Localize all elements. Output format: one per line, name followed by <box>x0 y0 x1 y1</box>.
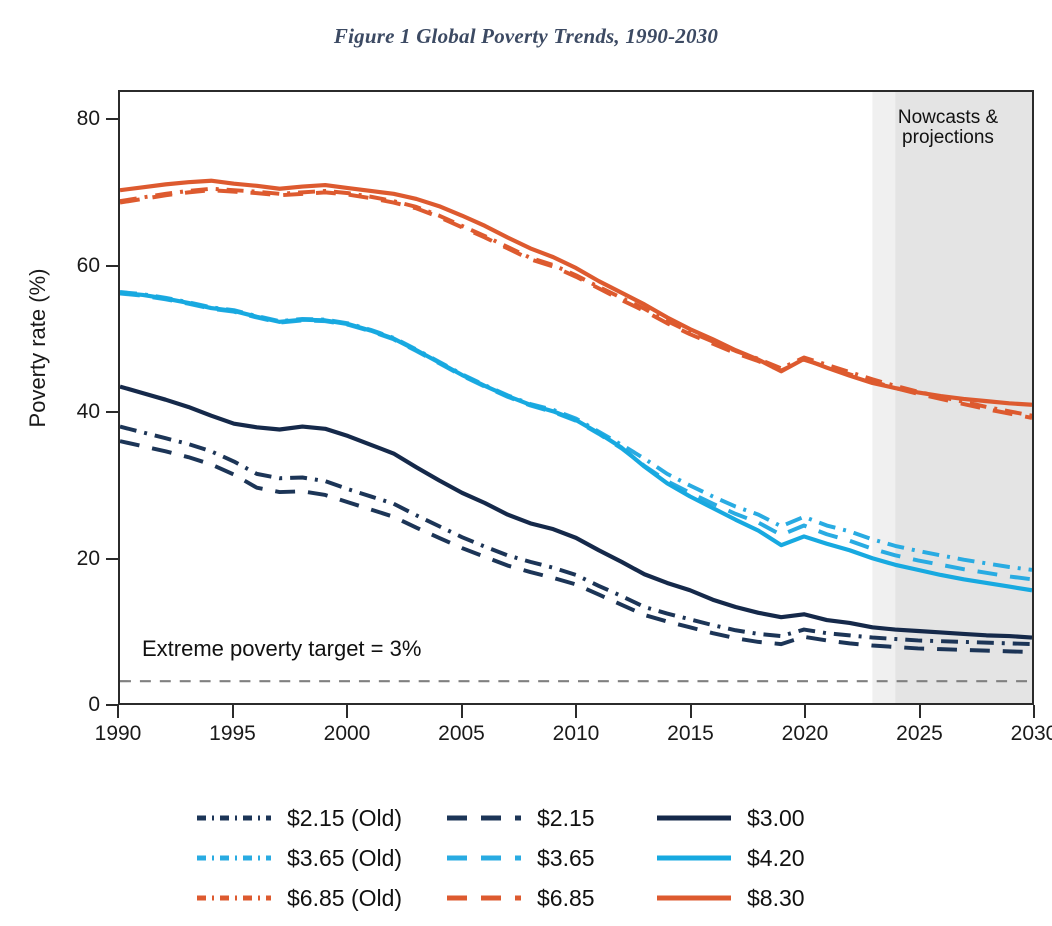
y-tick-label: 20 <box>42 547 100 571</box>
legend-label: $3.00 <box>747 805 805 832</box>
y-tick-mark <box>106 118 118 120</box>
x-tick-mark <box>346 705 348 718</box>
x-tick-label: 2010 <box>536 722 616 746</box>
x-tick-label: 2030 <box>994 722 1052 746</box>
legend-item[interactable]: $6.85 <box>445 885 655 912</box>
legend-item[interactable]: $2.15 <box>445 805 655 832</box>
legend-item[interactable]: $3.65 <box>445 845 655 872</box>
legend-label: $3.65 <box>537 845 595 872</box>
y-tick-label: 60 <box>42 254 100 278</box>
x-tick-label: 2005 <box>422 722 502 746</box>
legend-swatch-dashed-icon <box>445 849 523 867</box>
plot-area <box>118 90 1034 705</box>
y-tick-label: 80 <box>42 107 100 131</box>
x-tick-label: 2020 <box>765 722 845 746</box>
legend-swatch-solid-icon <box>655 849 733 867</box>
figure-container: Figure 1 Global Poverty Trends, 1990-203… <box>0 0 1052 926</box>
shaded-band-nowcast <box>872 92 895 703</box>
legend-label: $3.65 (Old) <box>287 845 402 872</box>
legend-swatch-dashed-icon <box>445 809 523 827</box>
x-tick-mark <box>117 705 119 718</box>
legend-label: $8.30 <box>747 885 805 912</box>
legend-item[interactable]: $6.85 (Old) <box>195 885 445 912</box>
legend-label: $2.15 <box>537 805 595 832</box>
legend-item[interactable]: $3.65 (Old) <box>195 845 445 872</box>
x-tick-mark <box>232 705 234 718</box>
x-tick-label: 1995 <box>193 722 273 746</box>
legend-swatch-dashed-icon <box>445 889 523 907</box>
x-tick-mark <box>804 705 806 718</box>
legend-item[interactable]: $2.15 (Old) <box>195 805 445 832</box>
x-tick-mark <box>575 705 577 718</box>
legend-swatch-dashdot-icon <box>195 849 273 867</box>
y-tick-mark <box>106 411 118 413</box>
page-title: Figure 1 Global Poverty Trends, 1990-203… <box>0 24 1052 49</box>
x-tick-label: 1990 <box>78 722 158 746</box>
x-tick-mark <box>1033 705 1035 718</box>
chart-legend: $2.15 (Old)$2.15$3.00$3.65 (Old)$3.65$4.… <box>195 798 885 918</box>
target-annotation: Extreme poverty target = 3% <box>142 636 421 662</box>
legend-item[interactable]: $4.20 <box>655 845 885 872</box>
legend-swatch-solid-icon <box>655 889 733 907</box>
legend-item[interactable]: $3.00 <box>655 805 885 832</box>
x-tick-label: 2025 <box>880 722 960 746</box>
x-tick-mark <box>690 705 692 718</box>
legend-label: $6.85 <box>537 885 595 912</box>
y-tick-mark <box>106 558 118 560</box>
legend-label: $6.85 (Old) <box>287 885 402 912</box>
legend-label: $4.20 <box>747 845 805 872</box>
legend-swatch-solid-icon <box>655 809 733 827</box>
legend-label: $2.15 (Old) <box>287 805 402 832</box>
x-tick-label: 2015 <box>651 722 731 746</box>
legend-swatch-dashdot-icon <box>195 889 273 907</box>
x-tick-mark <box>461 705 463 718</box>
legend-item[interactable]: $8.30 <box>655 885 885 912</box>
x-tick-mark <box>919 705 921 718</box>
x-tick-label: 2000 <box>307 722 387 746</box>
chart-canvas <box>120 92 1032 703</box>
y-tick-mark <box>106 265 118 267</box>
y-tick-label: 0 <box>42 693 100 717</box>
legend-swatch-dashdot-icon <box>195 809 273 827</box>
y-tick-label: 40 <box>42 400 100 424</box>
